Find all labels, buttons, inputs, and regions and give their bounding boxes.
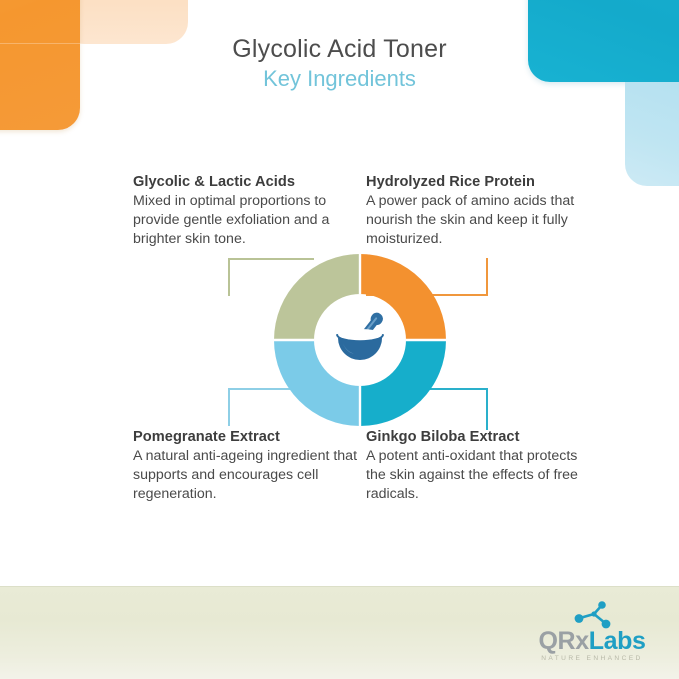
ingredient-block-hydrolyzed-rice-protein: Hydrolyzed Rice Protein A power pack of … (366, 174, 590, 249)
ingredient-title: Pomegranate Extract (133, 429, 357, 445)
logo-wordmark: QRxLabs (519, 629, 665, 654)
brand-logo: QRxLabs NATURE ENHANCED (519, 601, 665, 667)
title-subtitle: Key Ingredients (0, 65, 679, 93)
ingredient-description: A power pack of amino acids that nourish… (366, 192, 590, 249)
ingredient-description: Mixed in optimal proportions to provide … (133, 192, 357, 249)
logo-word-labs: Labs (589, 627, 646, 655)
ingredient-donut-wheel (272, 252, 448, 428)
logo-tagline: NATURE ENHANCED (519, 655, 665, 662)
ingredient-block-glycolic-lactic-acids: Glycolic & Lactic Acids Mixed in optimal… (133, 174, 357, 249)
ingredient-description: A natural anti-ageing ingredient that su… (133, 447, 357, 504)
ingredient-description: A potent anti-oxidant that protects the … (366, 447, 590, 504)
donut-svg (272, 252, 448, 428)
ingredient-title: Ginkgo Biloba Extract (366, 429, 590, 445)
ingredient-block-ginkgo-biloba-extract: Ginkgo Biloba Extract A potent anti-oxid… (366, 429, 590, 504)
infographic-page: Glycolic Acid Toner Key Ingredients Glyc… (0, 0, 679, 679)
ingredient-title: Hydrolyzed Rice Protein (366, 174, 590, 190)
ingredient-block-pomegranate-extract: Pomegranate Extract A natural anti-agein… (133, 429, 357, 504)
page-title: Glycolic Acid Toner Key Ingredients (0, 34, 679, 93)
logo-word-qrx: QRx (539, 627, 589, 655)
ingredient-title: Glycolic & Lactic Acids (133, 174, 357, 190)
decor-top-right-light-square (625, 82, 679, 186)
title-main: Glycolic Acid Toner (0, 34, 679, 65)
